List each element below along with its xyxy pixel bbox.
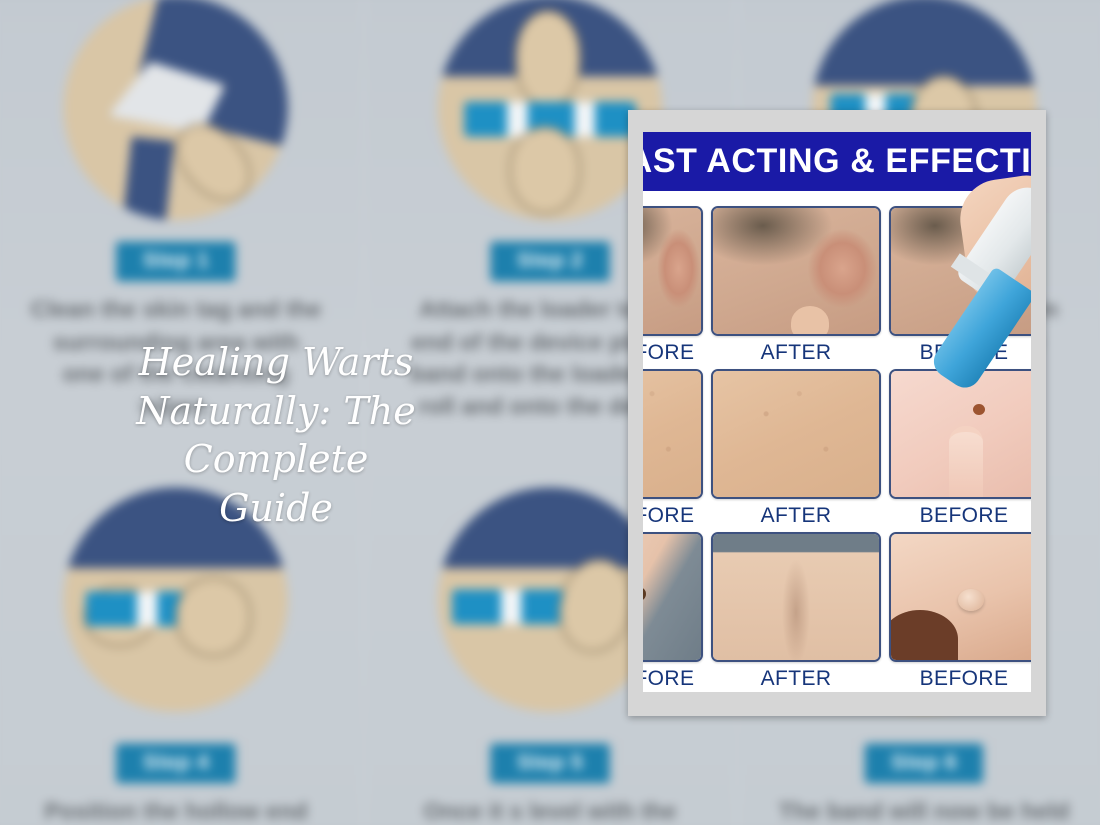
step-4-text: Position the hollow end of the device ov… [30,796,322,825]
page-title: Healing Warts Naturally: The Complete Gu… [130,338,422,533]
step-4-badge: Step 4 [116,743,235,783]
before-after-cell[interactable] [711,369,881,499]
before-after-label: BEFORE [643,662,703,692]
step-1-badge: Step 1 [116,242,235,282]
step-6-text: The band will now be held securely in pl… [778,796,1070,825]
promo-banner: FAST ACTING & EFFECTIVE [643,132,1031,191]
step-6-badge: Step 6 [864,743,983,783]
before-after-cell[interactable] [889,206,1031,336]
step-5-text: Once it s level with the skin s surface … [404,796,696,825]
before-after-label: BEFORE [643,336,703,369]
page-title-line-1: Healing Warts [130,338,422,387]
before-after-row-2: BEFORE AFTER BEFORE AFTER [643,369,1031,532]
before-after-cell[interactable] [889,369,1031,499]
before-after-label: AFTER [711,499,881,532]
before-after-row-1: BEFORE AFTER BEFORE AFTER [643,206,1031,369]
before-after-cell[interactable] [889,532,1031,662]
before-after-cell[interactable] [643,206,703,336]
step-2-badge: Step 2 [490,242,609,282]
promo-card: FAST ACTING & EFFECTIVE BEFORE AFTER BEF… [643,132,1031,692]
step-1-illustration [64,0,288,220]
before-after-cell[interactable] [643,369,703,499]
before-after-row-3: BEFORE AFTER BEFORE AFTER [643,532,1031,692]
step-5-badge: Step 5 [490,743,609,783]
before-after-cell[interactable] [643,532,703,662]
page-title-line-3: Complete Guide [130,435,422,532]
page-title-line-2: Naturally: The [130,387,422,436]
before-after-cell[interactable] [711,532,881,662]
before-after-label: BEFORE [643,499,703,532]
before-after-label: BEFORE [889,499,1031,532]
before-after-label: AFTER [711,336,881,369]
before-after-label: BEFORE [889,662,1031,692]
before-after-label: AFTER [711,662,881,692]
promo-panel[interactable]: FAST ACTING & EFFECTIVE BEFORE AFTER BEF… [628,110,1046,716]
promo-banner-text: FAST ACTING & EFFECTIVE [643,142,1031,181]
before-after-cell[interactable] [711,206,881,336]
before-after-label: BEFORE [889,336,1031,369]
